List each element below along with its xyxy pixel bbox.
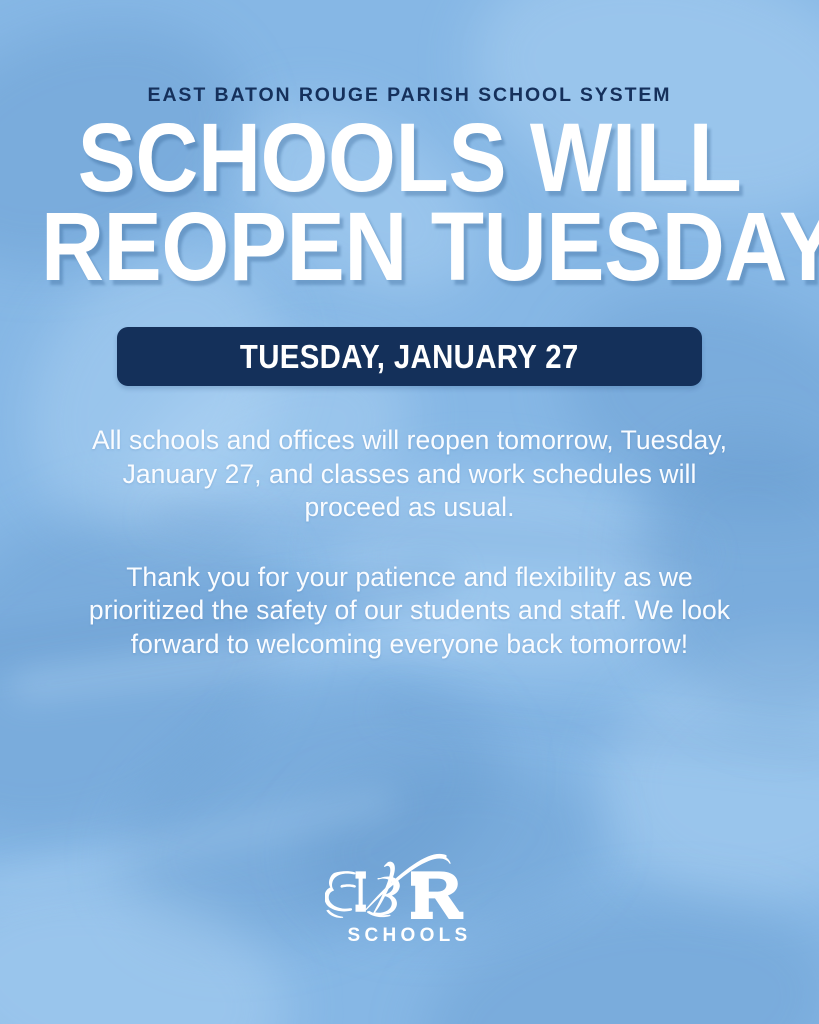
paragraph-reopening-details: All schools and offices will reopen tomo… bbox=[80, 424, 740, 525]
logo-wordmark: SCHOOLS bbox=[347, 925, 471, 947]
date-banner-label: TUESDAY, JANUARY 27 bbox=[240, 338, 579, 376]
page-title: SCHOOLS WILL REOPEN TUESDAY bbox=[41, 113, 778, 291]
poster-content: EAST BATON ROUGE PARISH SCHOOL SYSTEM SC… bbox=[0, 0, 819, 1024]
date-banner: TUESDAY, JANUARY 27 bbox=[117, 327, 702, 386]
announcement-poster: EAST BATON ROUGE PARISH SCHOOL SYSTEM SC… bbox=[0, 0, 819, 1024]
ebr-monogram-icon bbox=[325, 852, 495, 924]
headline-line-2: REOPEN TUESDAY bbox=[41, 202, 778, 291]
body-copy: All schools and offices will reopen tomo… bbox=[0, 424, 819, 661]
ebr-schools-logo: SCHOOLS bbox=[0, 852, 819, 947]
paragraph-thank-you: Thank you for your patience and flexibil… bbox=[80, 561, 740, 662]
headline-line-1: SCHOOLS WILL bbox=[41, 113, 778, 202]
